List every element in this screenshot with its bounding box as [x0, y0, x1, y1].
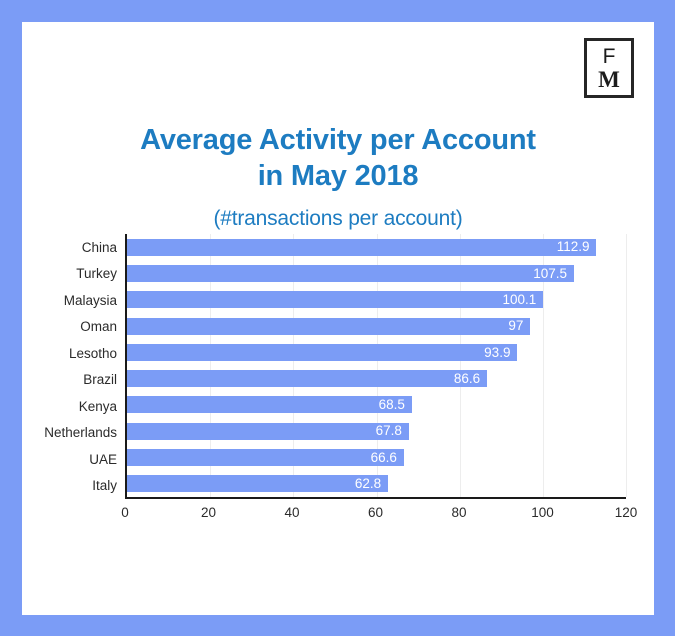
bar-value-label: 86.6	[454, 372, 487, 386]
plot-area: 112.9107.5100.19793.986.668.567.866.662.…	[125, 234, 626, 499]
bar[interactable]: 100.1	[127, 291, 543, 308]
bar[interactable]: 93.9	[127, 344, 517, 361]
bar-row[interactable]: 67.8	[127, 423, 626, 440]
x-tick-label: 80	[451, 506, 466, 520]
bar-row[interactable]: 68.5	[127, 396, 626, 413]
bar-value-label: 66.6	[371, 451, 404, 465]
infographic-frame: F M Average Activity per Account in May …	[0, 0, 675, 636]
bar-row[interactable]: 100.1	[127, 291, 626, 308]
category-label: Netherlands	[22, 426, 125, 440]
category-label: Lesotho	[22, 347, 125, 361]
bar-value-label: 62.8	[355, 477, 388, 491]
bar-value-label: 67.8	[376, 424, 409, 438]
bar-row[interactable]: 107.5	[127, 265, 626, 282]
title-block: Average Activity per Account in May 2018…	[22, 123, 654, 231]
bar-value-label: 97	[508, 319, 530, 333]
bar-row[interactable]: 97	[127, 318, 626, 335]
x-tick-label: 60	[368, 506, 383, 520]
category-label: Turkey	[22, 267, 125, 281]
bar-series: 112.9107.5100.19793.986.668.567.866.662.…	[127, 234, 626, 497]
x-tick-label: 120	[615, 506, 638, 520]
category-label: China	[22, 241, 125, 255]
category-axis: ChinaTurkeyMalaysiaOmanLesothoBrazilKeny…	[22, 234, 125, 499]
bar[interactable]: 66.6	[127, 449, 404, 466]
logo-letter-f: F	[603, 46, 616, 67]
bar[interactable]: 67.8	[127, 423, 409, 440]
category-label: Oman	[22, 320, 125, 334]
chart-title-line-2: in May 2018	[22, 159, 654, 195]
x-tick-label: 20	[201, 506, 216, 520]
bar-row[interactable]: 62.8	[127, 475, 626, 492]
bar[interactable]: 62.8	[127, 475, 388, 492]
category-label: UAE	[22, 453, 125, 467]
bar-row[interactable]: 66.6	[127, 449, 626, 466]
category-label: Italy	[22, 479, 125, 493]
gridline	[626, 234, 627, 497]
bar-value-label: 100.1	[502, 293, 543, 307]
bar-value-label: 93.9	[484, 346, 517, 360]
bar[interactable]: 107.5	[127, 265, 574, 282]
bar[interactable]: 86.6	[127, 370, 487, 387]
brand-logo: F M	[584, 38, 634, 98]
chart-title: Average Activity per Account in May 2018	[22, 123, 654, 195]
chart-subtitle: (#transactions per account)	[22, 207, 654, 231]
category-label: Brazil	[22, 373, 125, 387]
bar-row[interactable]: 112.9	[127, 239, 626, 256]
bar-row[interactable]: 93.9	[127, 344, 626, 361]
x-tick-label: 40	[284, 506, 299, 520]
bar-row[interactable]: 86.6	[127, 370, 626, 387]
category-label: Kenya	[22, 400, 125, 414]
infographic-canvas: F M Average Activity per Account in May …	[22, 22, 654, 615]
bar-value-label: 68.5	[379, 398, 412, 412]
bar[interactable]: 68.5	[127, 396, 412, 413]
bar-value-label: 112.9	[557, 240, 597, 254]
logo-letter-m: M	[598, 68, 620, 91]
x-axis-ticks: 020406080100120	[125, 500, 626, 526]
chart-title-line-1: Average Activity per Account	[22, 123, 654, 159]
bar-value-label: 107.5	[533, 267, 574, 281]
x-tick-label: 0	[121, 506, 129, 520]
category-label: Malaysia	[22, 294, 125, 308]
bar[interactable]: 97	[127, 318, 530, 335]
bar[interactable]: 112.9	[127, 239, 596, 256]
x-tick-label: 100	[531, 506, 554, 520]
chart-plot-wrapper: ChinaTurkeyMalaysiaOmanLesothoBrazilKeny…	[22, 234, 654, 524]
